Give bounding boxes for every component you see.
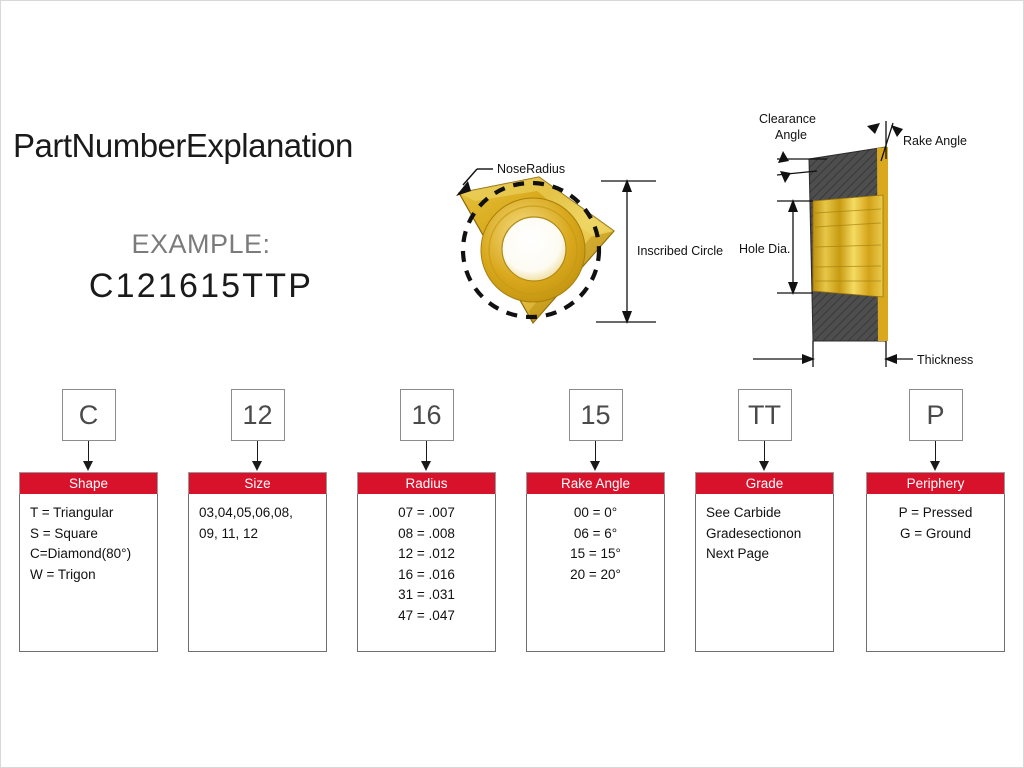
column-body-shape: T = Triangular S = Square C=Diamond(80°)… [19, 494, 158, 652]
column-line: 16 = .016 [366, 565, 487, 586]
code-box-periphery: P [909, 389, 963, 441]
hole-bore-section [813, 195, 883, 297]
code-box-value: P [926, 402, 944, 429]
rake-angle-label: Rake Angle [903, 134, 967, 148]
code-box-size: 12 [231, 389, 285, 441]
code-box-shape: C [62, 389, 116, 441]
arrow-to-shape [19, 441, 158, 472]
column-line: 06 = 6° [535, 524, 656, 545]
arrow-to-periphery [866, 441, 1005, 472]
example-part-number: C121615TTP [1, 267, 401, 306]
column-line: 20 = 20° [535, 565, 656, 586]
column-line: G = Ground [875, 524, 996, 545]
page-title: PartNumberExplanation [13, 127, 433, 165]
insert-top-view-illustration: NoseRadius Inscribed Circle [441, 151, 726, 356]
column-line: See Carbide [706, 503, 825, 524]
inscribed-circle-label: Inscribed Circle [637, 244, 723, 258]
column-line: 12 = .012 [366, 544, 487, 565]
code-box-radius: 16 [400, 389, 454, 441]
column-line: 08 = .008 [366, 524, 487, 545]
breakdown-column-shape: C Shape T = Triangular S = Square C=Diam… [19, 389, 158, 652]
arrow-to-grade [695, 441, 834, 472]
clearance-angle-label-line1: Clearance [759, 112, 816, 126]
diagram-canvas: PartNumberExplanation EXAMPLE: C121615TT… [0, 0, 1024, 768]
thickness-dimension [753, 341, 913, 367]
column-line: P = Pressed [875, 503, 996, 524]
thickness-label: Thickness [917, 353, 973, 367]
column-line: S = Square [30, 524, 149, 545]
column-line: Next Page [706, 544, 825, 565]
column-line: 15 = 15° [535, 544, 656, 565]
column-header-grade: Grade [695, 472, 834, 494]
code-box-value: 16 [411, 402, 441, 429]
column-body-periphery: P = Pressed G = Ground [866, 494, 1005, 652]
column-header-radius: Radius [357, 472, 496, 494]
column-line: 47 = .047 [366, 606, 487, 627]
column-body-radius: 07 = .007 08 = .008 12 = .012 16 = .016 … [357, 494, 496, 652]
code-box-rake-angle: 15 [569, 389, 623, 441]
column-line: Gradesectionon [706, 524, 825, 545]
column-line: T = Triangular [30, 503, 149, 524]
breakdown-column-size: 12 Size 03,04,05,06,08, 09, 11, 12 [188, 389, 327, 652]
code-box-value: TT [748, 402, 781, 429]
hole-dia-label: Hole Dia. [739, 242, 790, 256]
column-line: 31 = .031 [366, 585, 487, 606]
arrow-to-rake-angle [526, 441, 665, 472]
column-body-grade: See Carbide Gradesectionon Next Page [695, 494, 834, 652]
arrow-to-size [188, 441, 327, 472]
column-line: W = Trigon [30, 565, 149, 586]
insert-center-hole [502, 217, 566, 281]
part-number-breakdown-columns: C Shape T = Triangular S = Square C=Diam… [1, 389, 1024, 679]
code-box-value: 12 [242, 402, 272, 429]
breakdown-column-grade: TT Grade See Carbide Gradesectionon Next… [695, 389, 834, 652]
insert-section-view-illustration: Clearance Angle Rake Angle [731, 101, 1024, 381]
example-label: EXAMPLE: [1, 229, 401, 260]
nose-radius-label: NoseRadius [497, 162, 565, 176]
column-header-periphery: Periphery [866, 472, 1005, 494]
column-body-size: 03,04,05,06,08, 09, 11, 12 [188, 494, 327, 652]
breakdown-column-rake-angle: 15 Rake Angle 00 = 0° 06 = 6° 15 = 15° 2… [526, 389, 665, 652]
column-header-size: Size [188, 472, 327, 494]
column-body-rake-angle: 00 = 0° 06 = 6° 15 = 15° 20 = 20° [526, 494, 665, 652]
code-box-value: C [79, 402, 99, 429]
code-box-value: 15 [580, 402, 610, 429]
breakdown-column-periphery: P Periphery P = Pressed G = Ground [866, 389, 1005, 652]
arrow-to-radius [357, 441, 496, 472]
column-line: 07 = .007 [366, 503, 487, 524]
column-header-shape: Shape [19, 472, 158, 494]
breakdown-column-radius: 16 Radius 07 = .007 08 = .008 12 = .012 … [357, 389, 496, 652]
column-line: 00 = 0° [535, 503, 656, 524]
code-box-grade: TT [738, 389, 792, 441]
clearance-angle-label-line2: Angle [775, 128, 807, 142]
column-header-rake-angle: Rake Angle [526, 472, 665, 494]
column-line: 03,04,05,06,08, [199, 503, 318, 524]
column-line: C=Diamond(80°) [30, 544, 149, 565]
column-line: 09, 11, 12 [199, 524, 318, 545]
